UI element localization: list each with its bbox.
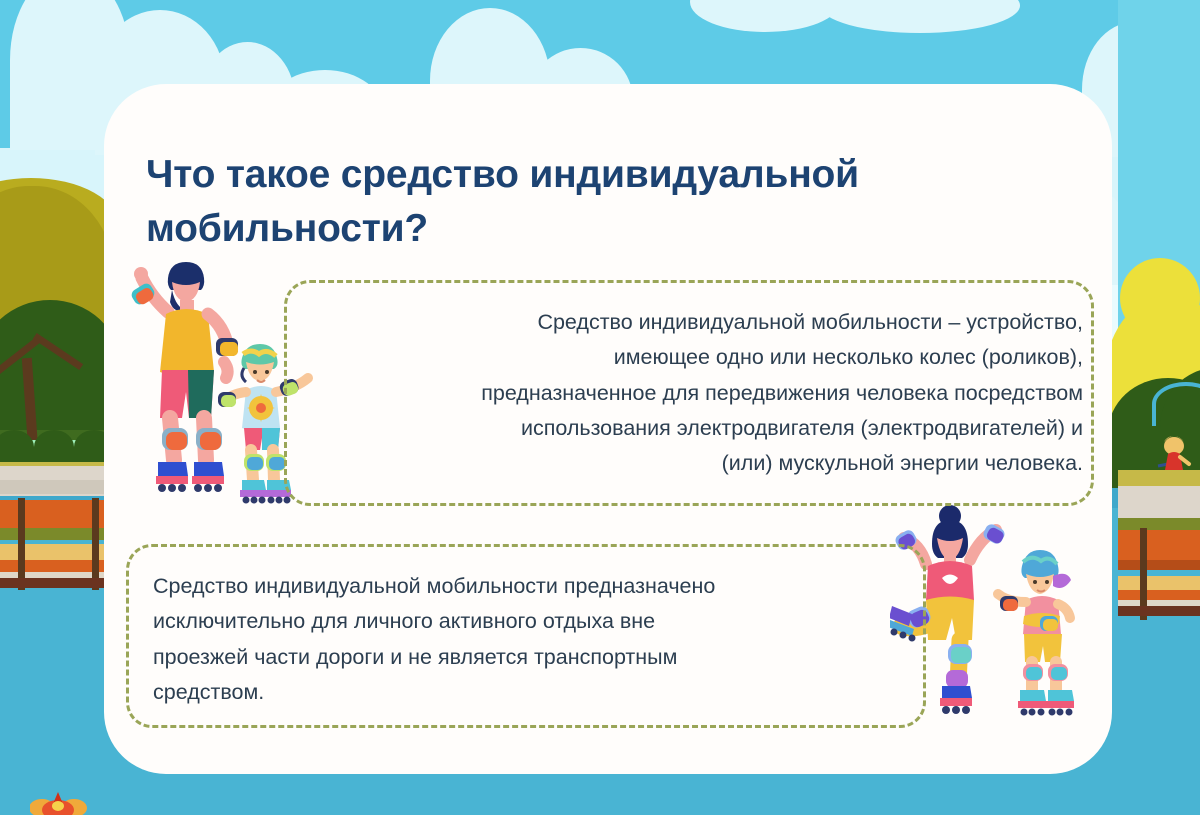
definition-text: Средство индивидуальной мобильности – ус… [301,305,1083,481]
flower-icon [30,786,88,815]
park-bench-icon [1118,530,1200,562]
bush-icon [34,430,74,464]
park-bench-icon [1118,590,1200,600]
page-title: Что такое средство индивидуальной мобиль… [146,148,1046,256]
right-shore-line [1118,606,1200,616]
park-bench-icon [1118,560,1200,570]
content-card: Что такое средство индивидуальной мобиль… [104,84,1112,774]
purpose-text: Средство индивидуальной мобильности пред… [153,569,873,710]
purpose-box: Средство индивидуальной мобильности пред… [126,544,926,728]
right-grass-strip [1118,470,1200,486]
infographic-canvas: Что такое средство индивидуальной мобиль… [0,0,1200,815]
right-path [1118,486,1200,520]
definition-box: Средство индивидуальной мобильности – ус… [284,280,1094,506]
right-grass-line [1118,518,1200,530]
bush-icon [0,430,34,464]
bench-leg [92,498,99,590]
bench-leg [18,498,25,590]
